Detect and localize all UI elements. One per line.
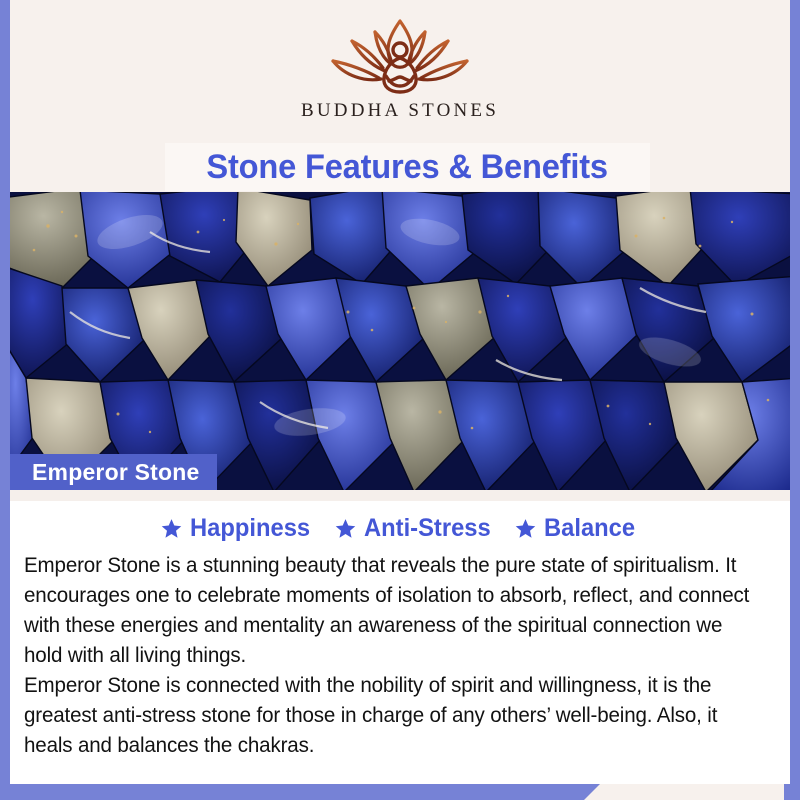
stone-name-label: Emperor Stone — [32, 459, 199, 486]
description-paragraph-2: Emperor Stone is connected with the nobi… — [24, 671, 757, 761]
brand-name: BUDDHA STONES — [301, 100, 499, 122]
content-panel: Happiness Anti-Stress — [10, 490, 790, 784]
star-icon — [334, 517, 357, 540]
brand-header: BUDDHA STONES — [10, 0, 790, 150]
content-top-divider — [10, 490, 790, 501]
star-icon — [514, 517, 537, 540]
infographic-page: BUDDHA STONES — [0, 0, 800, 800]
frame-band-bottom — [0, 784, 600, 800]
benefit-item: Balance — [514, 514, 640, 543]
stone-name-badge: Emperor Stone — [10, 454, 217, 490]
benefit-item: Anti-Stress — [334, 514, 497, 543]
section-title-banner: Stone Features & Benefits — [165, 143, 650, 191]
benefits-row: Happiness Anti-Stress — [10, 514, 790, 543]
lotus-meditation-icon — [325, 16, 475, 98]
description-text: Emperor Stone is a stunning beauty that … — [24, 551, 780, 761]
benefit-item: Happiness — [160, 514, 316, 543]
page-surface: BUDDHA STONES — [10, 0, 790, 784]
star-icon — [160, 517, 183, 540]
description-paragraph-1: Emperor Stone is a stunning beauty that … — [24, 551, 757, 671]
stone-photo: Emperor Stone — [10, 192, 790, 490]
page-title: Stone Features & Benefits — [207, 148, 608, 187]
benefit-label: Balance — [544, 514, 635, 543]
benefit-label: Anti-Stress — [364, 514, 491, 543]
benefit-label: Happiness — [190, 514, 310, 543]
